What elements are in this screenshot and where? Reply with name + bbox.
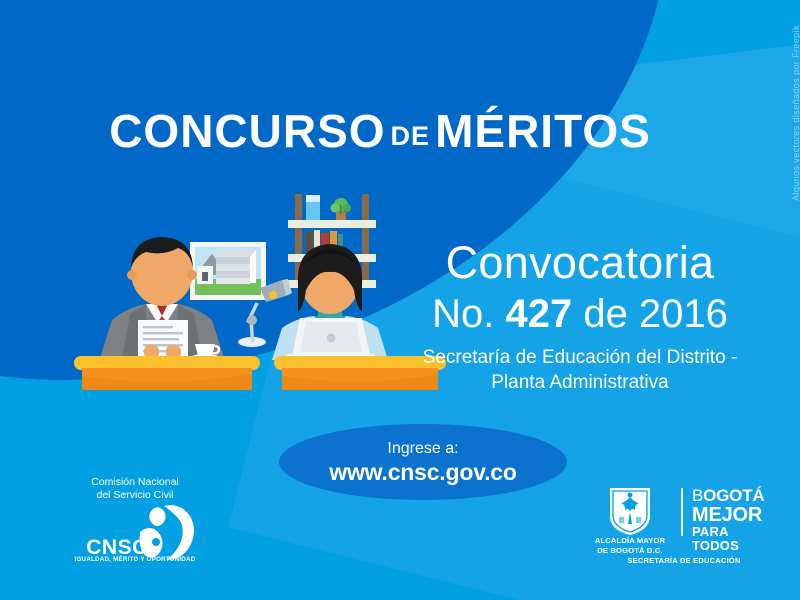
announcement-block: Convocatoria No. 427 de 2016 Secretaría …	[380, 236, 780, 395]
cnsc-logo: Comisión Nacional del Servicio Civil CNS…	[42, 476, 228, 572]
attribution-credit: Algunos vectores diseñados por Freepik	[791, 23, 800, 203]
desk-left	[74, 356, 260, 390]
bogota-slogan-line-3: PARA TODOS	[692, 525, 772, 553]
bogota-logo: ALCALDÍA MAYOR DE BOGOTÁ D.C. BOGOTÁ MEJ…	[588, 486, 768, 568]
cta-lead-text: Ingrese a:	[387, 439, 458, 459]
bogota-secretaria-label: SECRETARÍA DE EDUCACIÓN	[596, 556, 772, 565]
bogota-slogan-ogota: OGOTÁ	[703, 486, 764, 505]
bogota-slogan-line-1: BOGOTÁ	[692, 487, 772, 505]
headline-connector: DE	[391, 121, 431, 151]
cta-website[interactable]: Ingrese a: www.cnsc.gov.co	[279, 424, 567, 500]
document-icon	[138, 320, 188, 359]
cnsc-logo-name: Comisión Nacional del Servicio Civil	[42, 476, 228, 501]
cnsc-tagline: IGUALDAD, MÉRITO Y OPORTUNIDAD	[42, 556, 228, 563]
page-title: CONCURSODEMÉRITOS	[0, 104, 760, 158]
bogota-coat-of-arms-icon	[608, 486, 652, 536]
bogota-slogan-b: B	[692, 486, 703, 505]
bogota-slogan-line-2: MEJOR	[692, 505, 772, 525]
promotional-banner: CONCURSODEMÉRITOS Convocatoria No. 427 d…	[0, 0, 800, 600]
headline-word-2: MÉRITOS	[435, 105, 651, 157]
announcement-number-suffix: de 2016	[583, 292, 728, 336]
announcement-entity-line-1: Secretaría de Educación del Distrito -	[380, 345, 780, 370]
bogota-alcaldia-text: ALCALDÍA MAYOR DE BOGOTÁ D.C.	[586, 536, 674, 555]
announcement-title: Convocatoria	[380, 236, 780, 290]
bogota-slogan: BOGOTÁ MEJOR PARA TODOS	[692, 487, 772, 553]
bogota-alcaldia-line-1: ALCALDÍA MAYOR	[586, 536, 674, 546]
laptop-icon	[286, 318, 376, 361]
framed-photo-icon	[190, 242, 266, 300]
cnsc-name-line-1: Comisión Nacional	[42, 476, 228, 489]
announcement-number-line: No. 427 de 2016	[380, 290, 780, 338]
announcement-number-prefix: No.	[432, 292, 494, 336]
bogota-logo-divider	[681, 488, 683, 536]
bogota-alcaldia-line-2: DE BOGOTÁ D.C.	[586, 546, 674, 556]
announcement-number: 427	[505, 292, 572, 336]
announcement-entity-line-2: Planta Administrativa	[380, 370, 780, 395]
cta-url-link[interactable]: www.cnsc.gov.co	[329, 459, 516, 486]
headline-word-1: CONCURSO	[109, 105, 385, 157]
announcement-entity: Secretaría de Educación del Distrito - P…	[380, 345, 780, 395]
cnsc-name-line-2: del Servicio Civil	[42, 489, 228, 502]
